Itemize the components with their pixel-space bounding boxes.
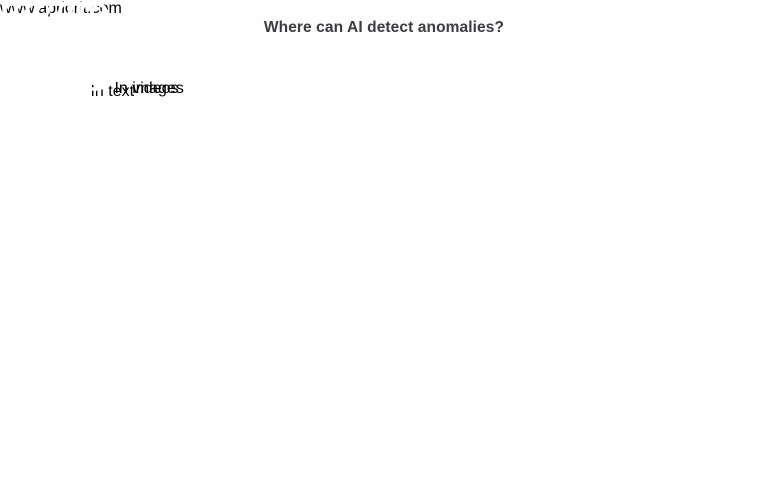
video-clapperboard-icon (0, 80, 114, 97)
card-in-videos[interactable]: In videos (0, 0, 179, 98)
slide-canvas: Where can AI detect anomalies? In text (0, 0, 768, 483)
card-label-in-videos: In videos (114, 80, 178, 97)
